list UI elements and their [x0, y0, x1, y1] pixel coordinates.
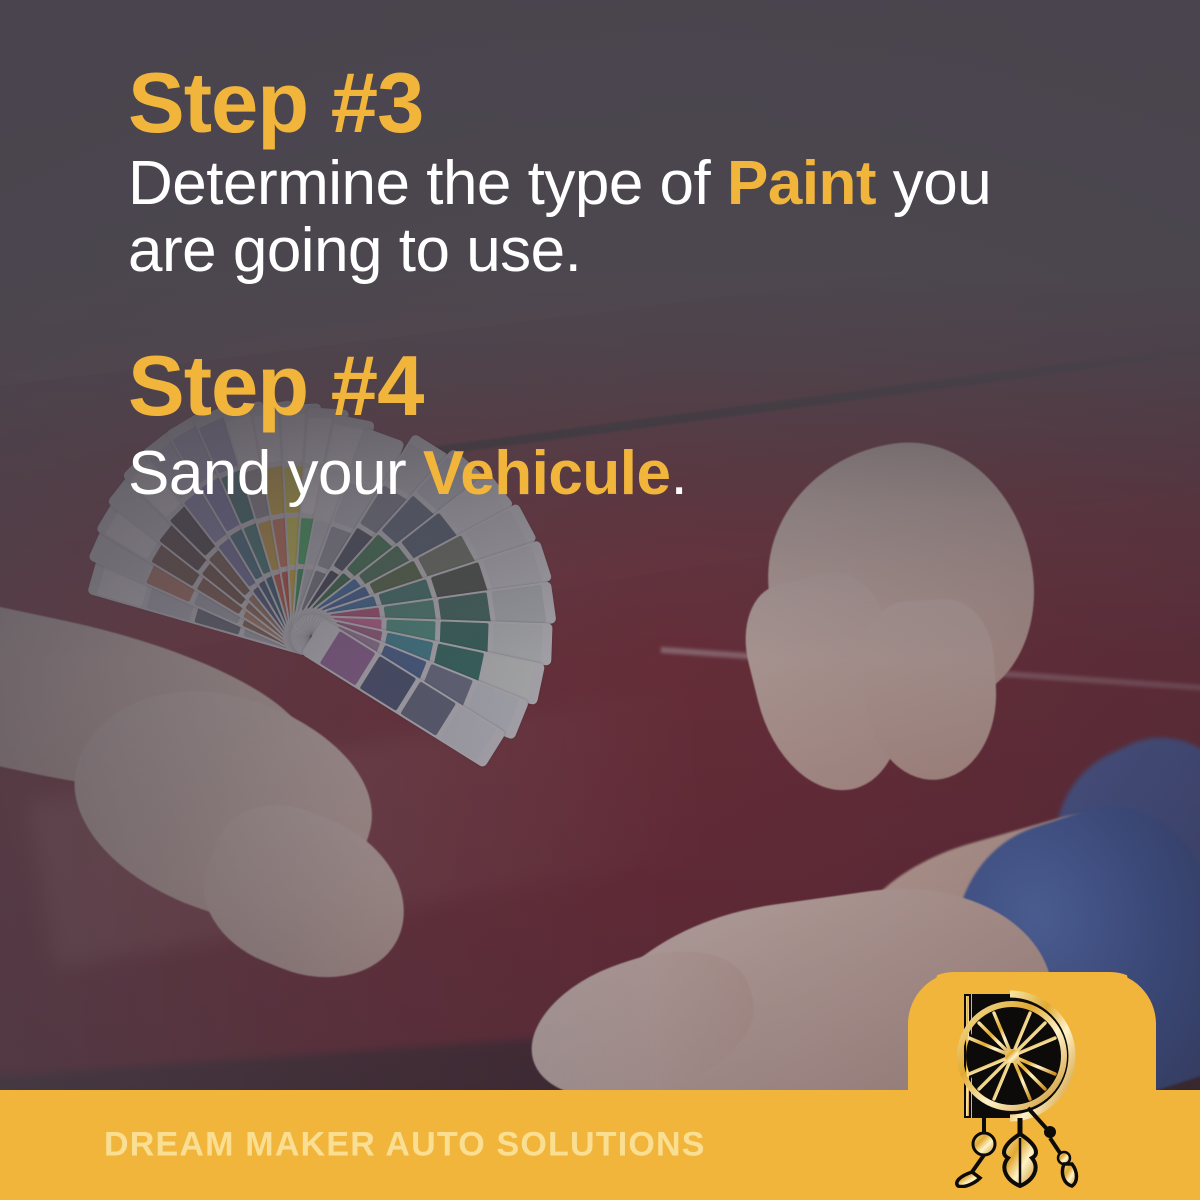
step-4-body-before: Sand your	[128, 439, 423, 508]
step-3-body: Determine the type of Paint you are goin…	[128, 151, 1028, 285]
step-4-heading: Step #4	[128, 345, 1068, 428]
step-4-block: Step #4 Sand your Vehicule.	[128, 345, 1068, 507]
step-4-body-after: .	[670, 439, 687, 508]
step-3-body-before: Determine the type of	[128, 149, 727, 218]
step-3-block: Step #3 Determine the type of Paint you …	[128, 62, 1068, 285]
step-4-body: Sand your Vehicule.	[128, 441, 1028, 508]
copy-block: Step #3 Determine the type of Paint you …	[128, 62, 1068, 507]
step-3-heading: Step #3	[128, 62, 1068, 145]
step-4-highlight: Vehicule	[423, 439, 671, 508]
brand-name: DREAM MAKER AUTO SOLUTIONS	[104, 1126, 706, 1165]
dreamcatcher-logo-icon	[950, 988, 1120, 1188]
promo-graphic: Step #3 Determine the type of Paint you …	[0, 0, 1200, 1200]
step-3-highlight: Paint	[727, 149, 876, 218]
